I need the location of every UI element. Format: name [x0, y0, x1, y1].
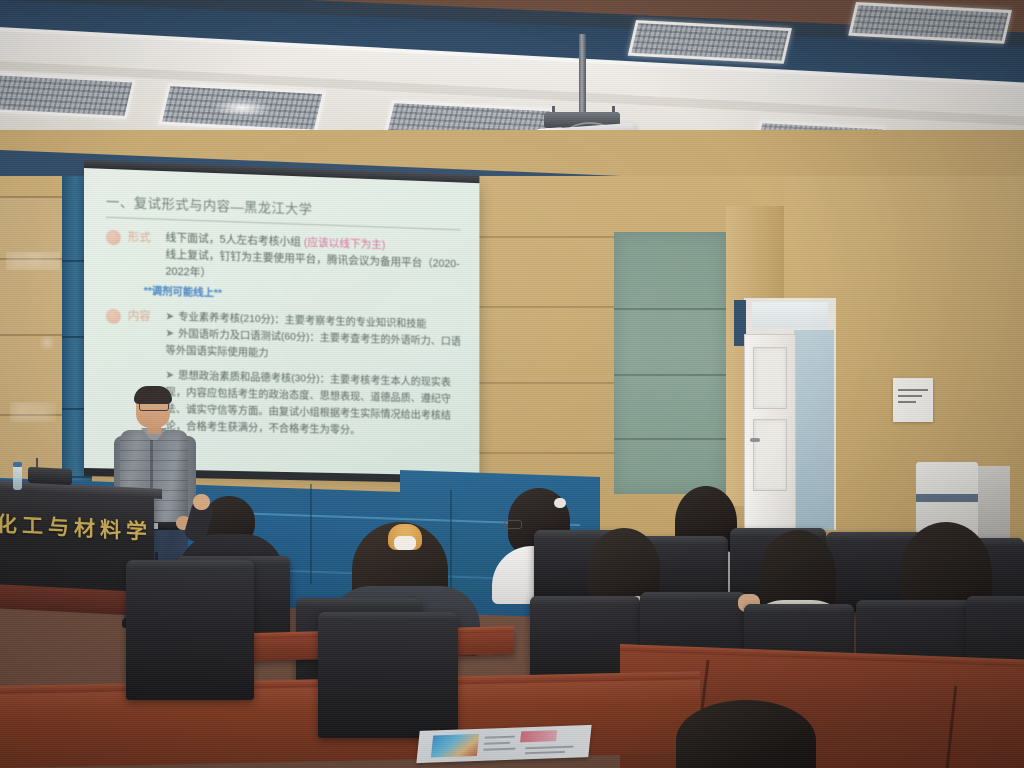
door-handle-icon[interactable]: [750, 438, 760, 442]
door-transom-window: [752, 302, 828, 328]
slide-line-highlight-pink: (应该以线下为主): [304, 237, 385, 252]
bullet-dot-icon: [106, 230, 121, 245]
slide-line-text: 线下面试，5人左右考核小组: [165, 232, 303, 249]
door-opening: [794, 330, 834, 530]
wall-motif-icon: [36, 336, 58, 350]
water-bottle-cap: [13, 462, 22, 467]
sign-text-lines: [898, 389, 928, 407]
ceiling-light-icon: [158, 83, 326, 133]
slide-section-key: 形式: [128, 229, 158, 281]
lecture-hall-photo: 一、复试形式与内容—黑龙江大学 形式 线下面试，5人左右考核小组 (应该以线下为…: [0, 0, 1024, 768]
slide-bullet-text: 外国语听力及口语测试(60分)：主要考查考生的外语听力、口语等外国语实际使用能力: [165, 328, 460, 359]
microphone-icon: [28, 467, 72, 485]
hair-tie-icon: [554, 498, 566, 508]
glasses-icon: [139, 402, 169, 411]
slide-note-blue: **调剂可能线上**: [144, 285, 222, 299]
brochure[interactable]: [416, 725, 591, 763]
wall-motif-icon: [10, 402, 56, 422]
audience-hand: [193, 494, 210, 510]
slide-bullet: ➤思想政治素质和品德考核(30分)：主要考核考生本人的现实表现，内容应包括考生的…: [165, 367, 462, 441]
wall-motif-icon: [6, 252, 60, 270]
wall-notice-sign: [893, 378, 933, 422]
ceiling-light-icon: [0, 72, 136, 119]
hair-clip-detail: [394, 536, 416, 550]
brochure-image: [520, 730, 557, 742]
brochure-image: [431, 734, 479, 758]
arrow-bullet-icon: ➤: [165, 369, 174, 381]
seat-back-foreground: [126, 560, 254, 700]
slide-section-body: 线下面试，5人左右考核小组 (应该以线下为主) 线上复试，钉钉为主要使用平台，腾…: [165, 230, 462, 290]
glasses-icon: [504, 520, 522, 529]
arrow-bullet-icon: ➤: [165, 327, 174, 339]
water-dispenser-side: [978, 466, 1010, 540]
seat-back-foreground: [318, 612, 458, 738]
wall-green-board: [614, 232, 726, 494]
slide-section-form: 形式 线下面试，5人左右考核小组 (应该以线下为主) 线上复试，钉钉为主要使用平…: [106, 228, 462, 290]
slide-line-text: 线上复试，钉钉为主要使用平台，腾讯会议为备用平台（2020-2022年）: [165, 249, 459, 279]
slide-section-body: ➤专业素养考核(210分)：主要考察考生的专业知识和技能 ➤外国语听力及口语测试…: [165, 308, 462, 441]
arrow-bullet-icon: ➤: [165, 310, 174, 322]
water-dispenser-stripe: [916, 494, 978, 502]
slide-bullet-text: 思想政治素质和品德考核(30分)：主要考核考生本人的现实表现，内容应包括考生的政…: [165, 369, 450, 436]
projector-mount-rod: [579, 34, 586, 120]
white-door[interactable]: [744, 334, 796, 532]
bullet-dot-icon: [106, 309, 121, 324]
water-bottle: [13, 466, 22, 490]
